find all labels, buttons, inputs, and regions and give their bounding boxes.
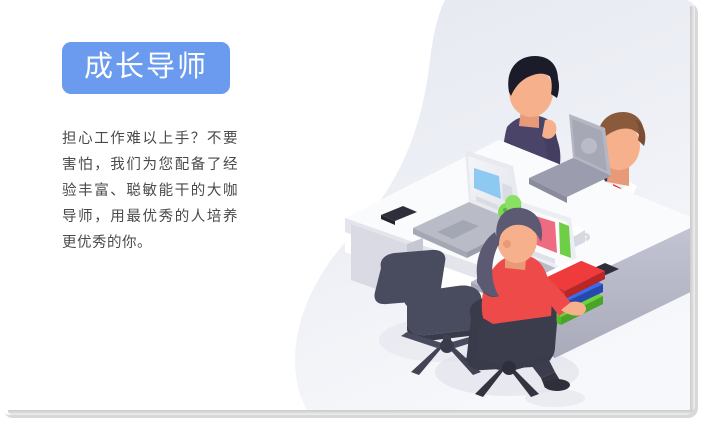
card-bottom-edge (8, 410, 695, 415)
section-title-badge: 成长导师 (62, 42, 230, 94)
text-column: 成长导师 担心工作难以上手？不要害怕，我们为您配备了经验丰富、聪敏能干的大咖导师… (62, 42, 262, 256)
promo-card-surface: 成长导师 担心工作难以上手？不要害怕，我们为您配备了经验丰富、聪敏能干的大咖导师… (0, 0, 695, 415)
section-description: 担心工作难以上手？不要害怕，我们为您配备了经验丰富、聪敏能干的大咖导师，用最优秀… (62, 126, 238, 256)
illustration-isometric-office (255, 0, 695, 415)
promo-card: 成长导师 担心工作难以上手？不要害怕，我们为您配备了经验丰富、聪敏能干的大咖导师… (0, 0, 703, 423)
card-right-edge (690, 6, 695, 415)
